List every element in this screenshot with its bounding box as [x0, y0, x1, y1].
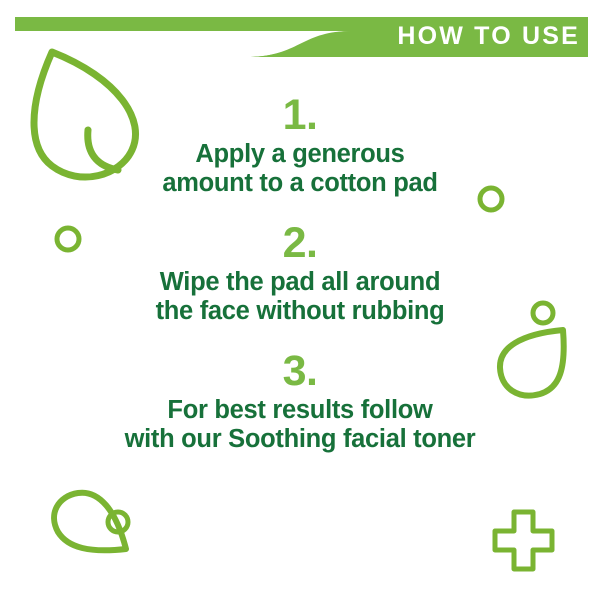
plus-cross-bottom-right-icon [495, 512, 552, 569]
step-1-number: 1. [0, 92, 600, 138]
banner-curve-fill [246, 31, 352, 57]
ring-circle-bottom-left-icon [108, 512, 128, 532]
step-item-2: 2. Wipe the pad all around the face with… [0, 220, 600, 326]
steps-list: 1. Apply a generous amount to a cotton p… [0, 92, 600, 476]
step-2-number: 2. [0, 220, 600, 266]
step-3-text: For best results follow with our Soothin… [0, 396, 600, 454]
step-1-text: Apply a generous amount to a cotton pad [0, 140, 600, 198]
step-item-1: 1. Apply a generous amount to a cotton p… [0, 92, 600, 198]
step-1-line-1: Apply a generous [0, 140, 600, 169]
step-3-number: 3. [0, 348, 600, 394]
step-3-line-2: with our Soothing facial toner [0, 425, 600, 454]
how-to-use-infographic: HOW TO USE 1. Apply a generous amount to… [0, 0, 600, 600]
step-1-line-2: amount to a cotton pad [0, 169, 600, 198]
step-3-line-1: For best results follow [0, 396, 600, 425]
banner-title: HOW TO USE [340, 22, 580, 50]
step-2-line-2: the face without rubbing [0, 297, 600, 326]
step-2-text: Wipe the pad all around the face without… [0, 268, 600, 326]
teardrop-leaf-bottom-left-icon [54, 493, 126, 551]
step-item-3: 3. For best results follow with our Soot… [0, 348, 600, 454]
step-2-line-1: Wipe the pad all around [0, 268, 600, 297]
